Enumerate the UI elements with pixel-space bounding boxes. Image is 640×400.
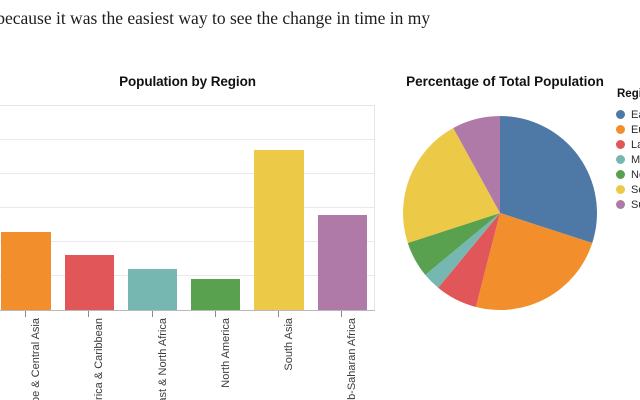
legend-swatch-icon	[616, 125, 625, 134]
bar-chart-title: Population by Region	[0, 74, 375, 89]
legend-item-label: North America	[631, 169, 640, 181]
legend-swatch-icon	[616, 200, 625, 209]
legend-rows: East Asia & PacificEurope & Central Asia…	[616, 107, 640, 212]
bar	[1, 232, 50, 310]
bar	[318, 215, 367, 310]
bar-chart-plot-area	[0, 105, 375, 311]
legend-item-label: Sub-Saharan Africa	[631, 199, 640, 211]
x-axis-tick	[278, 311, 279, 317]
bar-chart-figure: Population by Region East Asia & Pacific…	[0, 60, 380, 400]
pie-chart-title: Percentage of Total Population	[380, 74, 630, 89]
x-axis-label: South Asia	[283, 318, 295, 371]
chart-legend: Region East Asia & PacificEurope & Centr…	[616, 88, 640, 212]
legend-item-label: Latin America & Caribbean	[631, 139, 640, 151]
legend-item[interactable]: Europe & Central Asia	[616, 122, 640, 137]
legend-item[interactable]: Middle East & North Africa	[616, 152, 640, 167]
x-axis-tick	[215, 311, 216, 317]
x-axis-label: North America	[220, 318, 232, 388]
legend-title: Region	[617, 88, 640, 100]
legend-item[interactable]: South Asia	[616, 182, 640, 197]
x-axis-tick	[25, 311, 26, 317]
legend-swatch-icon	[616, 140, 625, 149]
x-axis-tick	[88, 311, 89, 317]
x-axis-tick	[341, 311, 342, 317]
pie-chart-figure: Percentage of Total Population Region Ea…	[380, 60, 640, 400]
legend-item[interactable]: Latin America & Caribbean	[616, 137, 640, 152]
figure-band: Population by Region East Asia & Pacific…	[0, 60, 640, 400]
legend-item-label: Middle East & North Africa	[631, 154, 640, 166]
x-axis-label: Sub-Saharan Africa	[346, 318, 358, 400]
x-axis-tick	[152, 311, 153, 317]
bar	[128, 269, 177, 310]
legend-item[interactable]: North America	[616, 167, 640, 182]
legend-swatch-icon	[616, 110, 625, 119]
legend-item[interactable]: Sub-Saharan Africa	[616, 197, 640, 212]
bar	[254, 150, 303, 310]
legend-swatch-icon	[616, 185, 625, 194]
x-axis-label: Middle East & North Africa	[157, 318, 169, 400]
pie-chart-svg	[403, 116, 597, 310]
legend-swatch-icon	[616, 155, 625, 164]
legend-item-label: Europe & Central Asia	[631, 124, 640, 136]
legend-item-label: East Asia & Pacific	[631, 109, 640, 121]
x-axis-label: Europe & Central Asia	[30, 318, 42, 400]
bar-chart-bars	[0, 106, 374, 310]
x-axis-label: Latin America & Caribbean	[93, 318, 105, 400]
legend-item[interactable]: East Asia & Pacific	[616, 107, 640, 122]
bar	[65, 255, 114, 310]
legend-item-label: South Asia	[631, 184, 640, 196]
document-paragraph-line: r because it was the easiest way to see …	[0, 6, 640, 30]
bar	[191, 279, 240, 310]
legend-swatch-icon	[616, 170, 625, 179]
pie-chart-plot-area	[403, 116, 597, 310]
